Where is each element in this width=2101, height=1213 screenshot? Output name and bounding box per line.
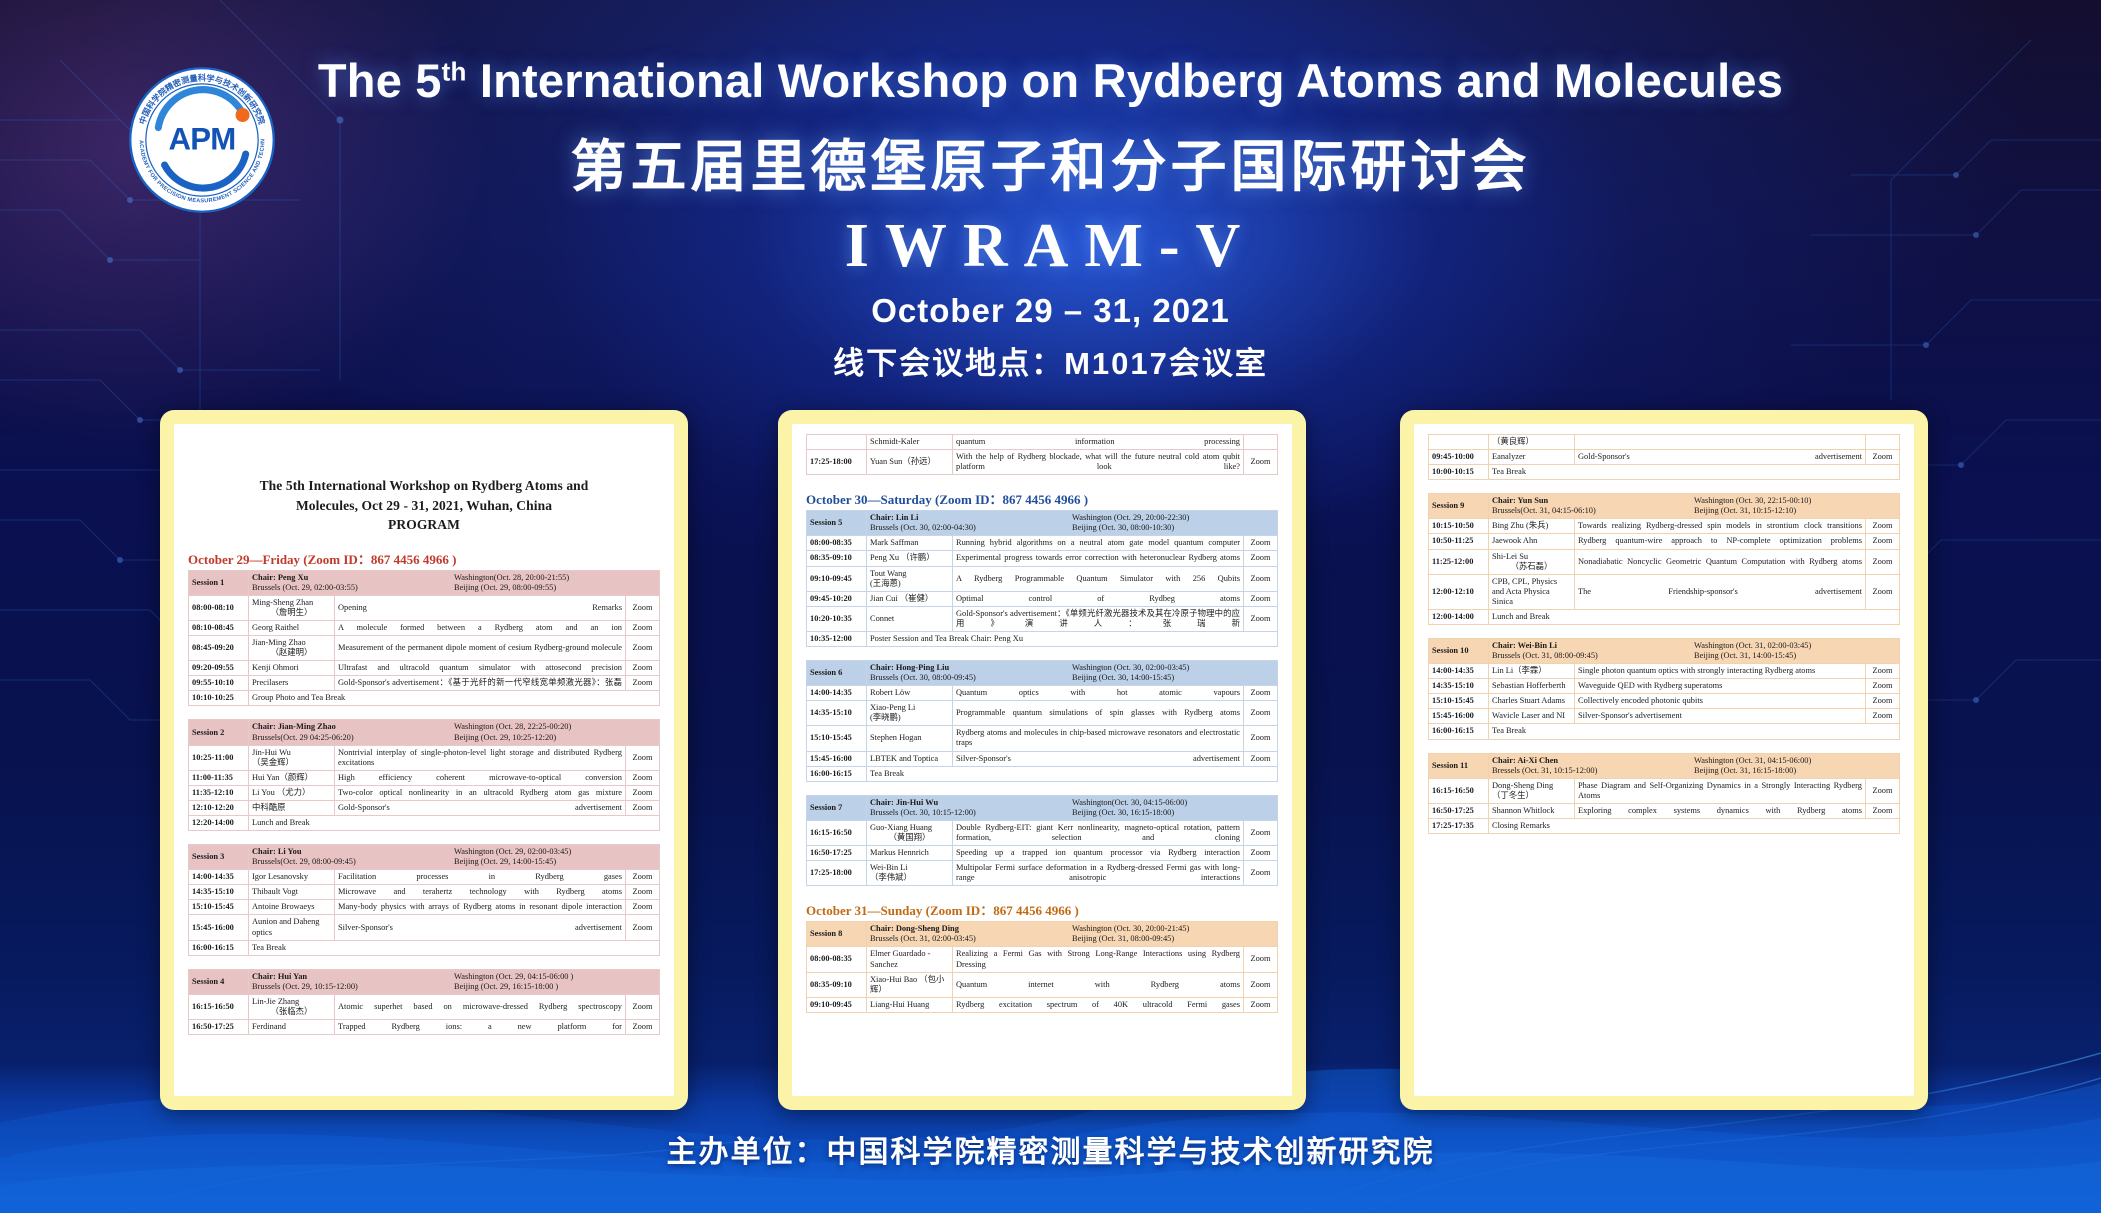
row-speaker: Peng Xu （许鹏） xyxy=(867,551,953,566)
row-time: 11:35-12:10 xyxy=(189,785,249,800)
row-time: 14:00-14:35 xyxy=(807,686,867,701)
row-zoom-link[interactable]: Zoom xyxy=(1866,709,1900,724)
row-speaker: Bing Zhu (朱兵) xyxy=(1489,519,1575,534)
table-row: 17:25-18:00Yuan Sun（孙远）With the help of … xyxy=(807,450,1278,475)
row-zoom-link[interactable]: Zoom xyxy=(626,621,660,636)
row-zoom-link[interactable]: Zoom xyxy=(1244,751,1278,766)
session-header-row: Session 11Chair: Ai-Xi ChenWashington (O… xyxy=(1429,753,1900,778)
row-zoom-link[interactable]: Zoom xyxy=(626,676,660,691)
row-talk-title: A molecule formed between a Rydberg atom… xyxy=(335,621,626,636)
table-row: 16:00-16:15Tea Break xyxy=(807,766,1278,781)
session-table: Session 6Chair: Hong-Ping LiuWashington … xyxy=(806,660,1278,782)
table-row: 09:55-10:10PrecilasersGold-Sponsor's adv… xyxy=(189,676,660,691)
row-speaker: Charles Stuart Adams xyxy=(1489,694,1575,709)
row-talk-title: Gold-Sponsor's advertisement：《基于光纤的新一代窄线… xyxy=(335,676,626,691)
row-time: 10:35-12:00 xyxy=(807,631,867,646)
row-time: 14:00-14:35 xyxy=(189,870,249,885)
row-talk-title: The Friendship-sponsor's advertisement xyxy=(1575,574,1866,609)
row-time: 16:00-16:15 xyxy=(807,766,867,781)
session-label: Session 10 xyxy=(1429,639,1489,664)
table-row: 08:35-09:10Peng Xu （许鹏）Experimental prog… xyxy=(807,551,1278,566)
row-speaker: Guo-Xiang Huang（黄国翔） xyxy=(867,820,953,845)
title-english: The 5th International Workshop on Rydber… xyxy=(0,56,2101,106)
row-speaker: Robert Löw xyxy=(867,686,953,701)
poster-header: APM 中国科学院精密测量科学与技术创新研究院 INNOVATION ACADE… xyxy=(0,0,2101,400)
row-zoom-link[interactable]: Zoom xyxy=(1244,972,1278,997)
row-zoom-link[interactable]: Zoom xyxy=(626,595,660,620)
row-note: Tea Break xyxy=(1489,724,1900,739)
program-panel-3: （黄良辉）09:45-10:00EanalyzerGold-Sponsor's … xyxy=(1400,410,1928,1110)
row-zoom-link xyxy=(1244,435,1278,450)
row-talk-title: Realizing a Fermi Gas with Strong Long-R… xyxy=(953,947,1244,972)
session-label: Session 3 xyxy=(189,845,249,870)
table-row: 12:00-14:00Lunch and Break xyxy=(1429,609,1900,624)
table-row: 10:15-10:50Bing Zhu (朱兵)Towards realizin… xyxy=(1429,519,1900,534)
row-zoom-link[interactable]: Zoom xyxy=(1244,551,1278,566)
row-note: Tea Break xyxy=(867,766,1278,781)
table-row: 14:35-15:10Sebastian HofferberthWaveguid… xyxy=(1429,679,1900,694)
day-heading-sunday: October 31—Sunday (Zoom ID：867 4456 4966… xyxy=(806,900,1278,919)
row-zoom-link[interactable]: Zoom xyxy=(1244,686,1278,701)
row-time: 15:10-15:45 xyxy=(1429,694,1489,709)
row-speaker: Eanalyzer xyxy=(1489,450,1575,465)
row-talk-title: Collectively encoded photonic qubits xyxy=(1575,694,1866,709)
row-zoom-link[interactable]: Zoom xyxy=(1244,820,1278,845)
table-row: 10:25-11:00Jin-Hui Wu（吴金辉）Nontrivial int… xyxy=(189,745,660,770)
document-title-line-2: Molecules, Oct 29 - 31, 2021, Wuhan, Chi… xyxy=(188,496,660,516)
table-row: 08:00-08:35Mark SaffmanRunning hybrid al… xyxy=(807,536,1278,551)
conference-venue: 线下会议地点：M1017会议室 xyxy=(0,338,2101,383)
table-row: 08:45-09:20Jian-Ming Zhao（赵建明）Measuremen… xyxy=(189,636,660,661)
title-abbreviation: IWRAM-V xyxy=(0,211,2101,282)
row-speaker: Dong-Sheng Ding（丁冬生） xyxy=(1489,778,1575,803)
table-row: 16:15-16:50Dong-Sheng Ding（丁冬生）Phase Dia… xyxy=(1429,778,1900,803)
row-speaker: Jaewook Ahn xyxy=(1489,534,1575,549)
row-speaker: Igor Lesanovsky xyxy=(249,870,335,885)
row-speaker: Kenji Ohmori xyxy=(249,661,335,676)
row-talk-title: Trapped Rydberg ions: a new platform for xyxy=(335,1020,626,1035)
session-label: Session 6 xyxy=(807,661,867,686)
row-note: Group Photo and Tea Break xyxy=(249,691,660,706)
row-zoom-link[interactable]: Zoom xyxy=(1865,519,1899,534)
program-panel-2-content: Schmidt-Kalerquantum information process… xyxy=(792,424,1292,1096)
row-talk-title: Silver-Sponsor's advertisement xyxy=(335,915,626,940)
document-title-line-3: PROGRAM xyxy=(188,515,660,535)
session-meta: Chair: Jian-Ming ZhaoWashington (Oct. 28… xyxy=(249,720,660,745)
session-label: Session 9 xyxy=(1429,494,1489,519)
row-zoom-link[interactable]: Zoom xyxy=(625,900,659,915)
row-zoom-link[interactable]: Zoom xyxy=(1865,574,1899,609)
row-zoom-link[interactable]: Zoom xyxy=(625,915,659,940)
session-meta: Chair: Lin LiWashington (Oct. 29, 20:00-… xyxy=(867,511,1278,536)
row-time: 15:45-16:00 xyxy=(189,915,249,940)
session-meta: Chair: Peng XuWashington(Oct. 28, 20:00-… xyxy=(249,570,660,595)
row-time xyxy=(1429,435,1489,450)
table-row: 11:25-12:00Shi-Lei Su（苏石磊）Nonadiabatic N… xyxy=(1429,549,1900,574)
row-talk-title: Optimal control of Rydbeg atoms xyxy=(953,591,1244,606)
row-time: 08:35-09:10 xyxy=(807,972,867,997)
day-heading-saturday: October 30—Saturday (Zoom ID：867 4456 49… xyxy=(806,489,1278,508)
row-talk-title: Nonadiabatic Noncyclic Geometric Quantum… xyxy=(1575,549,1866,574)
table-row: 08:00-08:10Ming-Sheng Zhan（詹明生）Opening R… xyxy=(189,595,660,620)
session-meta: Chair: Wei-Bin LiWashington (Oct. 31, 02… xyxy=(1489,639,1900,664)
row-time: 16:00-16:15 xyxy=(189,940,249,955)
row-zoom-link[interactable]: Zoom xyxy=(1866,803,1900,818)
session-label: Session 2 xyxy=(189,720,249,745)
table-row: 12:10-12:20中科酷原Gold-Sponsor's advertisem… xyxy=(189,800,660,815)
row-time: 14:00-14:35 xyxy=(1429,664,1489,679)
table-row: 16:15-16:50Lin-Jie Zhang（张临杰）Atomic supe… xyxy=(189,994,660,1019)
row-talk-title: Many-body physics with arrays of Rydberg… xyxy=(335,900,626,915)
row-speaker: Yuan Sun（孙远） xyxy=(867,450,953,475)
table-row: Schmidt-Kalerquantum information process… xyxy=(807,435,1278,450)
row-talk-title: Gold-Sponsor's advertisement xyxy=(1575,450,1866,465)
row-time: 10:00-10:15 xyxy=(1429,465,1489,480)
row-talk-title: Measurement of the permanent dipole mome… xyxy=(335,636,626,661)
table-row: 16:50-17:25Markus HennrichSpeeding up a … xyxy=(807,846,1278,861)
row-talk-title xyxy=(1575,435,1866,450)
row-speaker: Aunion and Daheng optics xyxy=(249,915,335,940)
row-zoom-link[interactable]: Zoom xyxy=(1866,778,1900,803)
day-heading-friday: October 29—Friday (Zoom ID：867 4456 4966… xyxy=(188,549,660,568)
row-time: 17:25-18:00 xyxy=(807,861,867,886)
title-chinese: 第五届里德堡原子和分子国际研讨会 xyxy=(0,122,2101,203)
table-row: （黄良辉） xyxy=(1429,435,1900,450)
row-speaker: CPB, CPL, Physics and Acta Physica Sinic… xyxy=(1489,574,1575,609)
session-header-row: Session 3Chair: Li YouWashington (Oct. 2… xyxy=(189,845,660,870)
table-row: 14:35-15:10Thibault VogtMicrowave and te… xyxy=(189,885,660,900)
table-row: 16:15-16:50Guo-Xiang Huang（黄国翔）Double Ry… xyxy=(807,820,1278,845)
session-meta: Chair: Ai-Xi ChenWashington (Oct. 31, 04… xyxy=(1489,753,1900,778)
row-time: 10:15-10:50 xyxy=(1429,519,1489,534)
program-panels: The 5th International Workshop on Rydber… xyxy=(0,410,2101,1110)
row-time: 14:35-15:10 xyxy=(807,701,867,726)
row-speaker: （黄良辉） xyxy=(1489,435,1575,450)
session-table: Session 1Chair: Peng XuWashington(Oct. 2… xyxy=(188,570,660,707)
row-zoom-link[interactable]: Zoom xyxy=(625,785,659,800)
row-zoom-link[interactable]: Zoom xyxy=(1244,861,1278,886)
session-table: Session 3Chair: Li YouWashington (Oct. 2… xyxy=(188,844,660,956)
organizer-text: 主办单位：中国科学院精密测量科学与技术创新研究院 xyxy=(0,1127,2101,1171)
row-time xyxy=(807,435,867,450)
row-talk-title: Atomic superhet based on microwave-dress… xyxy=(335,994,626,1019)
row-talk-title: quantum information processing xyxy=(953,435,1244,450)
table-row: 08:00-08:35Elmer Guardado - SanchezReali… xyxy=(807,947,1278,972)
row-speaker: 中科酷原 xyxy=(249,800,335,815)
session-label: Session 1 xyxy=(189,570,249,595)
row-talk-title: Single photon quantum optics with strong… xyxy=(1575,664,1866,679)
session-meta: Chair: Hong-Ping LiuWashington (Oct. 30,… xyxy=(867,661,1278,686)
row-time: 09:45-10:00 xyxy=(1429,450,1489,465)
row-talk-title: Experimental progress towards error corr… xyxy=(953,551,1244,566)
table-row: 15:45-16:00LBTEK and TopticaSilver-Spons… xyxy=(807,751,1278,766)
session-table: Session 2Chair: Jian-Ming ZhaoWashington… xyxy=(188,719,660,831)
row-zoom-link[interactable]: Zoom xyxy=(1866,450,1900,465)
conference-dates: October 29 – 31, 2021 xyxy=(0,292,2101,330)
row-talk-title: Gold-Sponsor's advertisement：《单频光纤激光器技术及… xyxy=(953,606,1244,631)
row-time: 16:00-16:15 xyxy=(1429,724,1489,739)
row-time: 09:45-10:20 xyxy=(807,591,867,606)
row-zoom-link[interactable]: Zoom xyxy=(1244,591,1278,606)
row-time: 08:00-08:10 xyxy=(189,595,249,620)
row-zoom-link[interactable]: Zoom xyxy=(625,800,659,815)
row-speaker: Jian Cui （崔健） xyxy=(867,591,953,606)
table-row: 16:00-16:15Tea Break xyxy=(1429,724,1900,739)
row-time: 08:35-09:10 xyxy=(807,551,867,566)
row-time: 08:45-09:20 xyxy=(189,636,249,661)
table-row: 09:10-09:45Tout Wang(王海蒽)A Rydberg Progr… xyxy=(807,566,1278,591)
session-meta: Chair: Li YouWashington (Oct. 29, 02:00-… xyxy=(249,845,660,870)
table-row: 15:10-15:45Charles Stuart AdamsCollectiv… xyxy=(1429,694,1900,709)
row-zoom-link[interactable]: Zoom xyxy=(1244,606,1278,631)
row-zoom-link[interactable]: Zoom xyxy=(626,636,660,661)
row-zoom-link[interactable]: Zoom xyxy=(625,994,659,1019)
row-speaker: Tout Wang(王海蒽) xyxy=(867,566,953,591)
row-zoom-link[interactable]: Zoom xyxy=(625,1020,659,1035)
row-speaker: Xiao-Peng Li(李晓鹏) xyxy=(867,701,953,726)
row-speaker: Georg Raithel xyxy=(249,621,335,636)
row-time: 09:10-09:45 xyxy=(807,997,867,1012)
row-zoom-link[interactable]: Zoom xyxy=(626,661,660,676)
session-meta: Chair: Dong-Sheng DingWashington (Oct. 3… xyxy=(867,922,1278,947)
row-talk-title: Rydberg atoms and molecules in chip-base… xyxy=(953,726,1244,751)
row-talk-title: Exploring complex systems dynamics with … xyxy=(1575,803,1866,818)
row-time: 16:50-17:25 xyxy=(1429,803,1489,818)
row-speaker: Markus Hennrich xyxy=(867,846,953,861)
table-row: 11:35-12:10Li You （尤力）Two-color optical … xyxy=(189,785,660,800)
row-zoom-link[interactable]: Zoom xyxy=(625,885,659,900)
session-table: Session 4Chair: Hui YanWashington (Oct. … xyxy=(188,969,660,1035)
row-talk-title: Ultrafast and ultracold quantum simulato… xyxy=(335,661,626,676)
session-header-row: Session 8Chair: Dong-Sheng DingWashingto… xyxy=(807,922,1278,947)
session-meta: Chair: Yun SunWashington (Oct. 30, 22:15… xyxy=(1489,494,1900,519)
table-row: 11:00-11:35Hui Yan（颜辉）High efficiency co… xyxy=(189,770,660,785)
session-table: （黄良辉）09:45-10:00EanalyzerGold-Sponsor's … xyxy=(1428,434,1900,480)
row-speaker: Liang-Hui Huang xyxy=(867,997,953,1012)
session-meta: Chair: Hui YanWashington (Oct. 29, 04:15… xyxy=(249,969,660,994)
program-panel-1: The 5th International Workshop on Rydber… xyxy=(160,410,688,1110)
row-time: 12:20-14:00 xyxy=(189,816,249,831)
row-talk-title: With the help of Rydberg blockade, what … xyxy=(953,450,1244,475)
row-speaker: Stephen Hogan xyxy=(867,726,953,751)
session-header-row: Session 6Chair: Hong-Ping LiuWashington … xyxy=(807,661,1278,686)
table-row: 10:20-10:35ConnetGold-Sponsor's advertis… xyxy=(807,606,1278,631)
row-time: 14:35-15:10 xyxy=(1429,679,1489,694)
row-speaker: Connet xyxy=(867,606,953,631)
row-talk-title: Quantum internet with Rydberg atoms xyxy=(953,972,1244,997)
row-zoom-link[interactable]: Zoom xyxy=(1866,679,1900,694)
session-label: Session 4 xyxy=(189,969,249,994)
row-time: 08:00-08:35 xyxy=(807,536,867,551)
row-zoom-link[interactable]: Zoom xyxy=(1244,846,1278,861)
row-zoom-link[interactable]: Zoom xyxy=(1244,997,1278,1012)
row-zoom-link[interactable]: Zoom xyxy=(1866,664,1900,679)
session-header-row: Session 4Chair: Hui YanWashington (Oct. … xyxy=(189,969,660,994)
row-talk-title: Gold-Sponsor's advertisement xyxy=(335,800,626,815)
row-zoom-link[interactable]: Zoom xyxy=(625,870,659,885)
table-row: 15:10-15:45Stephen HoganRydberg atoms an… xyxy=(807,726,1278,751)
session-table: Session 7Chair: Jin-Hui WuWashington(Oct… xyxy=(806,795,1278,887)
row-time: 09:55-10:10 xyxy=(189,676,249,691)
row-talk-title: Two-color optical nonlinearity in an ult… xyxy=(335,785,626,800)
table-row: 12:20-14:00Lunch and Break xyxy=(189,816,660,831)
table-row: 17:25-18:00Wei-Bin Li（李伟斌）Multipolar Fer… xyxy=(807,861,1278,886)
row-time: 11:25-12:00 xyxy=(1429,549,1489,574)
row-speaker: Sebastian Hofferberth xyxy=(1489,679,1575,694)
session-header-row: Session 2Chair: Jian-Ming ZhaoWashington… xyxy=(189,720,660,745)
program-panel-2: Schmidt-Kalerquantum information process… xyxy=(778,410,1306,1110)
table-row: 14:35-15:10Xiao-Peng Li(李晓鹏)Programmable… xyxy=(807,701,1278,726)
row-zoom-link[interactable]: Zoom xyxy=(1865,534,1899,549)
session-table: Schmidt-Kalerquantum information process… xyxy=(806,434,1278,475)
row-time: 08:10-08:45 xyxy=(189,621,249,636)
table-row: 09:10-09:45Liang-Hui HuangRydberg excita… xyxy=(807,997,1278,1012)
row-speaker: Thibault Vogt xyxy=(249,885,335,900)
row-speaker: Lin Li（李霖） xyxy=(1489,664,1575,679)
row-speaker: Wei-Bin Li（李伟斌） xyxy=(867,861,953,886)
program-panel-1-content: The 5th International Workshop on Rydber… xyxy=(174,424,674,1096)
row-time: 16:50-17:25 xyxy=(189,1020,249,1035)
row-zoom-link[interactable]: Zoom xyxy=(1865,549,1899,574)
row-note: Lunch and Break xyxy=(249,816,660,831)
session-table: Session 8Chair: Dong-Sheng DingWashingto… xyxy=(806,921,1278,1013)
row-speaker: Li You （尤力） xyxy=(249,785,335,800)
table-row: 10:10-10:25Group Photo and Tea Break xyxy=(189,691,660,706)
row-time: 10:25-11:00 xyxy=(189,745,249,770)
table-row: 16:50-17:25FerdinandTrapped Rydberg ions… xyxy=(189,1020,660,1035)
table-row: 10:35-12:00Poster Session and Tea Break … xyxy=(807,631,1278,646)
row-talk-title: Microwave and terahertz technology with … xyxy=(335,885,626,900)
session-header-row: Session 7Chair: Jin-Hui WuWashington(Oct… xyxy=(807,795,1278,820)
row-talk-title: Multipolar Fermi surface deformation in … xyxy=(953,861,1244,886)
row-time: 16:15-16:50 xyxy=(1429,778,1489,803)
row-talk-title: Facilitation processes in Rydberg gases xyxy=(335,870,626,885)
row-time: 10:50-11:25 xyxy=(1429,534,1489,549)
row-speaker: Lin-Jie Zhang（张临杰） xyxy=(249,994,335,1019)
table-row: 16:00-16:15Tea Break xyxy=(189,940,660,955)
session-table: Session 11Chair: Ai-Xi ChenWashington (O… xyxy=(1428,753,1900,834)
table-row: 12:00-12:10CPB, CPL, Physics and Acta Ph… xyxy=(1429,574,1900,609)
table-row: 08:35-09:10Xiao-Hui Bao （包小辉）Quantum int… xyxy=(807,972,1278,997)
row-speaker: Elmer Guardado - Sanchez xyxy=(867,947,953,972)
session-label: Session 8 xyxy=(807,922,867,947)
row-zoom-link[interactable]: Zoom xyxy=(625,770,659,785)
row-time: 15:10-15:45 xyxy=(189,900,249,915)
row-time: 17:25-17:35 xyxy=(1429,818,1489,833)
row-speaker: Shi-Lei Su（苏石磊） xyxy=(1489,549,1575,574)
row-time: 15:10-15:45 xyxy=(807,726,867,751)
title-block: The 5th International Workshop on Rydber… xyxy=(0,56,2101,383)
session-header-row: Session 5Chair: Lin LiWashington (Oct. 2… xyxy=(807,511,1278,536)
row-time: 09:20-09:55 xyxy=(189,661,249,676)
row-time: 12:00-14:00 xyxy=(1429,609,1489,624)
row-speaker: Jian-Ming Zhao（赵建明） xyxy=(249,636,335,661)
title-english-post: International Workshop on Rydberg Atoms … xyxy=(467,54,1784,107)
row-note: Closing Remarks xyxy=(1489,818,1900,833)
row-zoom-link[interactable]: Zoom xyxy=(1244,701,1278,726)
row-speaker: Ferdinand xyxy=(249,1020,335,1035)
row-zoom-link[interactable]: Zoom xyxy=(625,745,659,770)
session-table: Session 5Chair: Lin LiWashington (Oct. 2… xyxy=(806,510,1278,647)
row-note: Poster Session and Tea Break Chair: Peng… xyxy=(867,631,1278,646)
row-talk-title: Programmable quantum simulations of spin… xyxy=(953,701,1244,726)
row-talk-title: A Rydberg Programmable Quantum Simulator… xyxy=(953,566,1244,591)
row-zoom-link[interactable]: Zoom xyxy=(1866,694,1900,709)
row-talk-title: Opening Remarks xyxy=(335,595,626,620)
session-label: Session 5 xyxy=(807,511,867,536)
row-time: 08:00-08:35 xyxy=(807,947,867,972)
program-panel-3-content: （黄良辉）09:45-10:00EanalyzerGold-Sponsor's … xyxy=(1414,424,1914,1096)
row-time: 17:25-18:00 xyxy=(807,450,867,475)
row-talk-title: Speeding up a trapped ion quantum proces… xyxy=(953,846,1244,861)
row-speaker: Xiao-Hui Bao （包小辉） xyxy=(867,972,953,997)
row-time: 12:10-12:20 xyxy=(189,800,249,815)
session-header-row: Session 10Chair: Wei-Bin LiWashington (O… xyxy=(1429,639,1900,664)
row-time: 15:45-16:00 xyxy=(807,751,867,766)
table-row: 10:00-10:15Tea Break xyxy=(1429,465,1900,480)
session-table: Session 10Chair: Wei-Bin LiWashington (O… xyxy=(1428,638,1900,740)
row-speaker: Mark Saffman xyxy=(867,536,953,551)
row-zoom-link[interactable]: Zoom xyxy=(1244,566,1278,591)
row-speaker: Schmidt-Kaler xyxy=(867,435,953,450)
table-row: 17:25-17:35Closing Remarks xyxy=(1429,818,1900,833)
session-header-row: Session 1Chair: Peng XuWashington(Oct. 2… xyxy=(189,570,660,595)
table-row: 15:45-16:00Aunion and Daheng opticsSilve… xyxy=(189,915,660,940)
row-note: Tea Break xyxy=(1489,465,1900,480)
row-speaker: Shannon Whitlock xyxy=(1489,803,1575,818)
session-table: Session 9Chair: Yun SunWashington (Oct. … xyxy=(1428,493,1900,625)
row-time: 16:15-16:50 xyxy=(807,820,867,845)
document-title: The 5th International Workshop on Rydber… xyxy=(188,476,660,535)
table-row: 15:10-15:45Antoine BrowaeysMany-body phy… xyxy=(189,900,660,915)
table-row: 14:00-14:35Igor LesanovskyFacilitation p… xyxy=(189,870,660,885)
row-zoom-link[interactable]: Zoom xyxy=(1244,947,1278,972)
table-row: 09:45-10:20Jian Cui （崔健）Optimal control … xyxy=(807,591,1278,606)
session-header-row: Session 9Chair: Yun SunWashington (Oct. … xyxy=(1429,494,1900,519)
row-time: 09:10-09:45 xyxy=(807,566,867,591)
row-speaker: Hui Yan（颜辉） xyxy=(249,770,335,785)
row-note: Tea Break xyxy=(249,940,660,955)
row-time: 15:45-16:00 xyxy=(1429,709,1489,724)
row-zoom-link[interactable]: Zoom xyxy=(1244,726,1278,751)
row-talk-title: High efficiency coherent microwave-to-op… xyxy=(335,770,626,785)
table-row: 14:00-14:35Lin Li（李霖）Single photon quant… xyxy=(1429,664,1900,679)
table-row: 14:00-14:35Robert LöwQuantum optics with… xyxy=(807,686,1278,701)
table-row: 10:50-11:25Jaewook AhnRydberg quantum-wi… xyxy=(1429,534,1900,549)
row-talk-title: Towards realizing Rydberg-dressed spin m… xyxy=(1575,519,1866,534)
row-talk-title: Silver-Sponsor's advertisement xyxy=(1575,709,1866,724)
row-speaker: Antoine Browaeys xyxy=(249,900,335,915)
row-time: 11:00-11:35 xyxy=(189,770,249,785)
row-talk-title: Rydberg quantum-wire approach to NP-comp… xyxy=(1575,534,1866,549)
row-talk-title: Silver-Sponsor's advertisement xyxy=(953,751,1244,766)
row-time: 16:50-17:25 xyxy=(807,846,867,861)
session-label: Session 11 xyxy=(1429,753,1489,778)
table-row: 09:20-09:55Kenji OhmoriUltrafast and ult… xyxy=(189,661,660,676)
row-talk-title: Waveguide QED with Rydberg superatoms xyxy=(1575,679,1866,694)
row-speaker: Jin-Hui Wu（吴金辉） xyxy=(249,745,335,770)
row-time: 16:15-16:50 xyxy=(189,994,249,1019)
row-zoom-link[interactable]: Zoom xyxy=(1244,536,1278,551)
row-zoom-link xyxy=(1866,435,1900,450)
row-talk-title: Rydberg excitation spectrum of 40K ultra… xyxy=(953,997,1244,1012)
row-speaker: Ming-Sheng Zhan（詹明生） xyxy=(249,595,335,620)
table-row: 09:45-10:00EanalyzerGold-Sponsor's adver… xyxy=(1429,450,1900,465)
row-time: 14:35-15:10 xyxy=(189,885,249,900)
row-zoom-link[interactable]: Zoom xyxy=(1244,450,1278,475)
table-row: 16:50-17:25Shannon WhitlockExploring com… xyxy=(1429,803,1900,818)
row-talk-title: Quantum optics with hot atomic vapours xyxy=(953,686,1244,701)
